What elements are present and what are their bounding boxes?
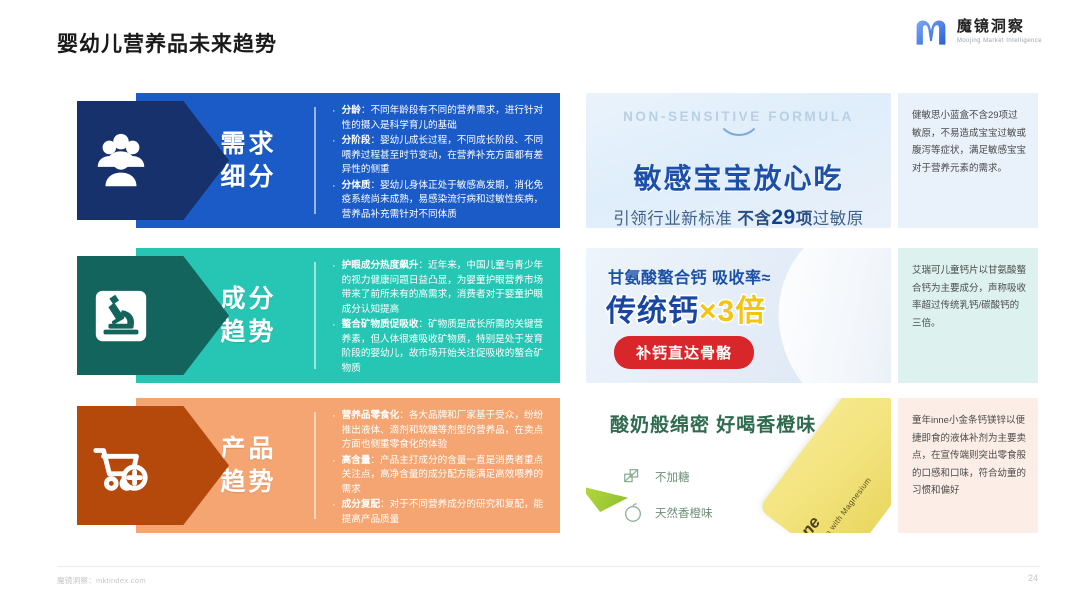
band-divider [314,107,316,214]
image-eyebrow-text: NON-SENSITIVE FORMULA [586,109,891,124]
logo-name: 魔镜洞察 [957,18,1042,35]
smile-icon [722,127,756,138]
image-feature-label: 不加糖 [655,469,690,485]
orange-fruit-icon [622,502,644,524]
bullet-item: · 分龄：不同年龄段有不同的营养需求，进行针对性的摄入是科学育儿的基础 [332,104,550,133]
page-title: 婴幼儿营养品未来趋势 [57,28,277,58]
band-ingredient: 成分 趋势 · 护眼成分热度飙升：近年来，中国儿童与青少年的视力健康问题日益凸显… [136,248,560,383]
bullet-dot: · [332,498,336,527]
caption-ingredient: 艾瑞可儿童钙片以甘氨酸螯合钙为主要成分，声称吸收率超过传统乳钙/碳酸钙的三倍。 [898,248,1038,383]
image-feature-2: 天然香橙味 [622,502,713,524]
bullet-item: · 护眼成分热度飙升：近年来，中国儿童与青少年的视力健康问题日益凸显，为婴童护眼… [332,259,550,317]
image-feature-1: 不加糖 [622,466,690,488]
slide: 婴幼儿营养品未来趋势 魔镜洞察 Moojing Market Intellige… [0,0,1080,607]
caption-product: 童年inne小金条钙镁锌以便捷即食的液体补剂为主要卖点，在宣传端则突出零食般的口… [898,398,1038,533]
product-image-calcium: 甘氨酸螯合钙 吸收率≈ 传统钙×3倍 补钙直达骨骼 [586,248,891,383]
image-badge: 补钙直达骨骼 [614,336,754,369]
bullet-dot: · [332,134,336,178]
bullet-dot: · [332,454,336,498]
microscope-icon [90,285,152,347]
brand-logo: 魔镜洞察 Moojing Market Intelligence [913,14,1042,48]
bullet-item: · 分体质：婴幼儿身体正处于敏感高发期，消化免疫系统尚未成熟，易感染流行病和过敏… [332,179,550,223]
footer-divider [57,566,1040,567]
band-divider [314,262,316,369]
product-image-liquid: 酸奶般绵密 好喝香橙味 不加糖 天然香橙味 [586,398,891,533]
image-feature-label: 天然香橙味 [655,505,713,521]
logo-subtitle: Moojing Market Intelligence [957,38,1042,44]
bullet-list-demand: · 分龄：不同年龄段有不同的营养需求，进行针对性的摄入是科学育儿的基础 · 分阶… [332,104,550,224]
bullet-item: · 螯合矿物质促吸收：矿物质是成长所需的关键营养素，但人体很难吸收矿物质，特别是… [332,318,550,376]
image-headline: 甘氨酸螯合钙 吸收率≈ [608,264,771,288]
bullet-dot: · [332,318,336,376]
caption-demand: 健敏思小蓝盒不含29项过敏原，不易造成宝宝过敏或腹泻等症状，满足敏感宝宝对于营养… [898,93,1038,228]
no-sugar-icon [622,466,644,488]
bottle-shape [765,248,891,383]
image-subheadline: 引领行业新标准 不含29项过敏原 [586,205,891,228]
bullet-item: · 成分复配：对于不同营养成分的研究和复配，能提高产品质量 [332,498,550,527]
bullet-item: · 分阶段：婴幼儿成长过程，不同成长阶段、不同喂养过程甚至时节变动，在营养补充方… [332,134,550,178]
people-group-icon [90,130,152,192]
band-divider [314,412,316,519]
footer-source: 魔镜洞察：mktindex.com [57,575,146,586]
image-headline: 酸奶般绵密 好喝香橙味 [610,410,816,437]
bullet-list-product: · 营养品零食化：各大品牌和厂家基于受众，纷纷推出液体、滴剂和软糖等剂型的营养品… [332,409,550,529]
band-product: 产品 趋势 · 营养品零食化：各大品牌和厂家基于受众，纷纷推出液体、滴剂和软糖等… [136,398,560,533]
page-number: 24 [1028,573,1038,583]
bullet-list-ingredient: · 护眼成分热度飙升：近年来，中国儿童与青少年的视力健康问题日益凸显，为婴童护眼… [332,259,550,378]
product-image-allergen: NON-SENSITIVE FORMULA 敏感宝宝放心吃 引领行业新标准 不含… [586,93,891,228]
moojing-m-logo-icon [913,14,949,48]
image-subheadline: 传统钙×3倍 [606,286,766,330]
image-headline: 敏感宝宝放心吃 [586,157,891,197]
bullet-dot: · [332,409,336,453]
bullet-dot: · [332,179,336,223]
shopping-cart-plus-icon [90,435,152,497]
bullet-dot: · [332,259,336,317]
bullet-item: · 营养品零食化：各大品牌和厂家基于受众，纷纷推出液体、滴剂和软糖等剂型的营养品… [332,409,550,453]
band-demand: 需求 细分 · 分龄：不同年龄段有不同的营养需求，进行针对性的摄入是科学育儿的基… [136,93,560,228]
bullet-dot: · [332,104,336,133]
bullet-item: · 高含量：产品主打成分的含量一直是消费者重点关注点，高净含量的成分配方能满足高… [332,454,550,498]
